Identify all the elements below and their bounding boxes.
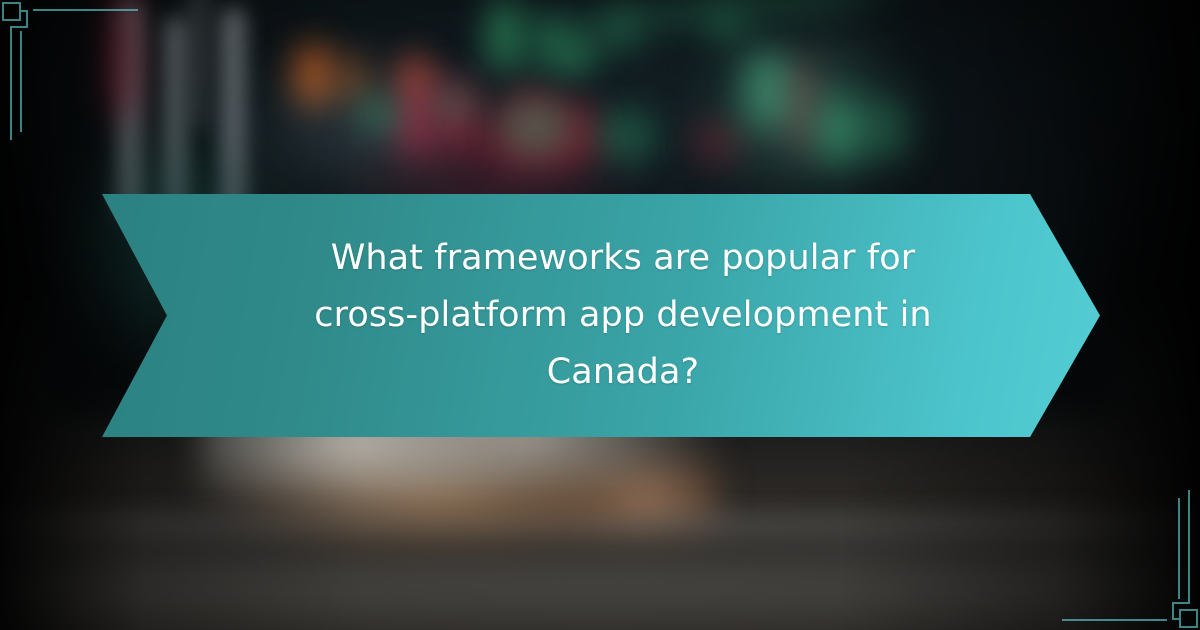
foreground-desk: [0, 510, 1200, 630]
chart-candle-green-3: [488, 0, 522, 70]
headline-banner: What frameworks are popular for cross-pl…: [102, 194, 1100, 437]
chart-candle-red-1: [108, 0, 134, 120]
og-image-card: What frameworks are popular for cross-pl…: [0, 0, 1200, 630]
background-glow-panel: [260, 80, 440, 170]
chart-candle-orange-3: [402, 56, 426, 92]
page-title: What frameworks are popular for cross-pl…: [243, 230, 1003, 401]
headline-banner-content: What frameworks are popular for cross-pl…: [243, 230, 1003, 401]
chart-bar-white-4: [192, 0, 206, 128]
chart-candle-green-9: [596, 110, 656, 162]
chart-candle-green-5: [560, 38, 594, 72]
background-glow-green: [730, 50, 880, 170]
